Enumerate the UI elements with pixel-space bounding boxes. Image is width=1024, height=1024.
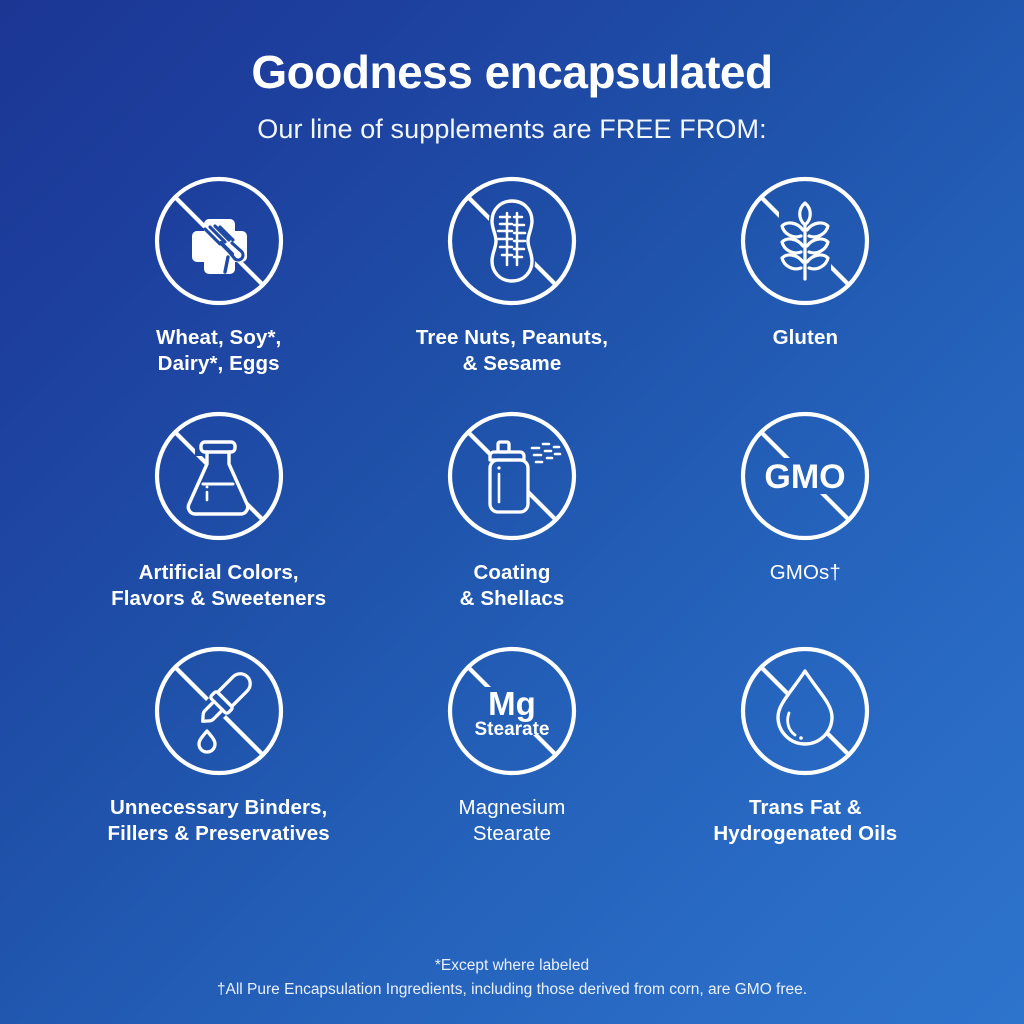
no-flask-icon <box>151 408 287 544</box>
infographic-poster: Goodness encapsulated Our line of supple… <box>0 0 1024 1024</box>
free-from-item-label: Tree Nuts, Peanuts, & Sesame <box>416 325 608 377</box>
no-dropper-icon <box>151 643 287 779</box>
footnote-except-where-labeled: *Except where labeled <box>0 954 1024 978</box>
page-title: Goodness encapsulated <box>0 48 1024 98</box>
free-from-item-coating: Coating & Shellacs <box>365 408 658 643</box>
no-allergen-cross-fork-icon <box>151 173 287 309</box>
gmo-icon-text: GMO <box>765 458 846 496</box>
free-from-item-trans-fat: Trans Fat & Hydrogenated Oils <box>659 643 952 878</box>
free-from-item-gluten: Gluten <box>659 173 952 408</box>
free-from-item-label: Unnecessary Binders, Fillers & Preservat… <box>108 795 330 847</box>
free-from-item-label: Wheat, Soy*, Dairy*, Eggs <box>156 325 281 377</box>
poster-header: Goodness encapsulated Our line of supple… <box>0 0 1024 145</box>
free-from-item-mg-stearate: Mg Stearate Magnesium Stearate <box>365 643 658 878</box>
free-from-grid: Wheat, Soy*, Dairy*, Eggs <box>72 173 952 878</box>
no-spray-can-icon <box>444 408 580 544</box>
free-from-item-label: Gluten <box>773 325 839 351</box>
no-oil-droplet-icon <box>737 643 873 779</box>
free-from-item-artificial-colors: Artificial Colors, Flavors & Sweeteners <box>72 408 365 643</box>
no-peanut-icon <box>444 173 580 309</box>
free-from-item-label: Magnesium Stearate <box>459 795 566 847</box>
free-from-item-binders: Unnecessary Binders, Fillers & Preservat… <box>72 643 365 878</box>
no-magnesium-stearate-text-icon: Mg Stearate <box>444 643 580 779</box>
no-gmo-text-icon: GMO <box>737 408 873 544</box>
footnote-gmo-free: †All Pure Encapsulation Ingredients, inc… <box>0 978 1024 1002</box>
footnotes: *Except where labeled †All Pure Encapsul… <box>0 954 1024 1002</box>
free-from-item-label: GMOs† <box>770 560 841 586</box>
mg-icon-text: Mg <box>488 685 536 722</box>
page-subtitle: Our line of supplements are FREE FROM: <box>0 114 1024 145</box>
free-from-item-gmo: GMO GMOs† <box>659 408 952 643</box>
stearate-icon-text: Stearate <box>474 719 549 740</box>
no-wheat-stalk-icon <box>737 173 873 309</box>
free-from-item-nuts: Tree Nuts, Peanuts, & Sesame <box>365 173 658 408</box>
free-from-item-label: Trans Fat & Hydrogenated Oils <box>713 795 897 847</box>
free-from-item-label: Artificial Colors, Flavors & Sweeteners <box>111 560 326 612</box>
free-from-item-allergens: Wheat, Soy*, Dairy*, Eggs <box>72 173 365 408</box>
free-from-item-label: Coating & Shellacs <box>460 560 565 612</box>
